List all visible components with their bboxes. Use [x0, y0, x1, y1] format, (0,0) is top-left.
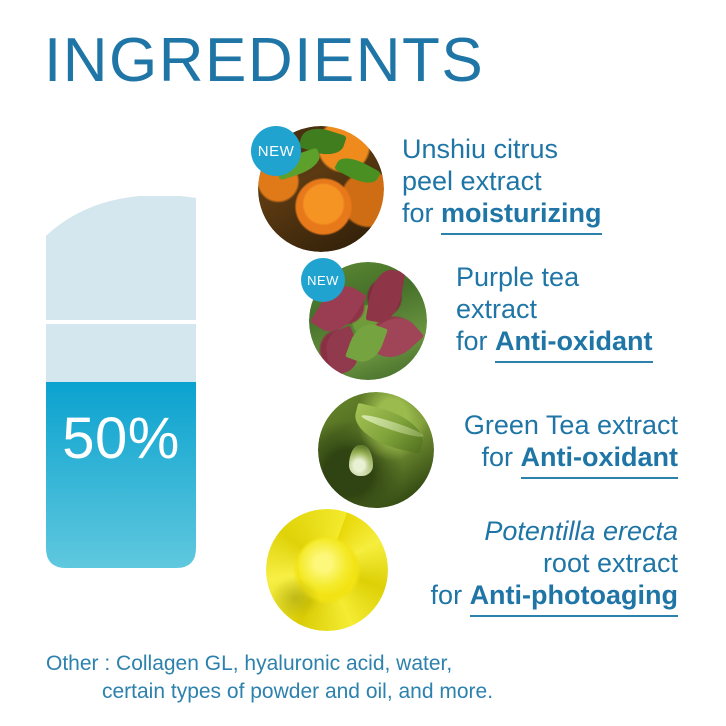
footer-note: Other : Collagen GL, hyaluronic acid, wa…	[46, 650, 493, 707]
benefit-value: moisturizing	[441, 198, 602, 235]
ingredient-text: Green Tea extract for Anti-oxidant	[378, 410, 678, 474]
ingredient-text: Potentilla erecta root extract for Anti-…	[378, 516, 678, 612]
ingredients-infographic: INGREDIENTS 50%	[0, 0, 726, 726]
gauge-value-label: 50%	[46, 410, 196, 468]
benefit-prefix: for	[482, 442, 521, 472]
ingredient-text: Unshiu citrus peel extract for moisturiz…	[402, 134, 602, 230]
benefit-prefix: for	[431, 580, 470, 610]
bottle-shape	[46, 196, 232, 568]
ingredient-line-2: extract	[456, 294, 653, 326]
new-badge: NEW	[301, 258, 345, 302]
new-badge: NEW	[251, 126, 301, 176]
benefit-value: Anti-oxidant	[495, 326, 652, 363]
ingredient-benefit: for moisturizing	[402, 198, 602, 230]
ingredient-benefit: for Anti-photoaging	[378, 580, 678, 612]
bottle-fill-gauge: 50%	[46, 196, 232, 568]
benefit-value: Anti-oxidant	[521, 442, 678, 479]
ingredient-line-1: Potentilla erecta	[378, 516, 678, 548]
benefit-prefix: for	[402, 198, 441, 228]
ingredient-line-1: Purple tea	[456, 262, 653, 294]
yellow-flower-photo	[266, 509, 388, 631]
footer-line-2: certain types of powder and oil, and mor…	[46, 678, 493, 706]
ingredient-text: Purple tea extract for Anti-oxidant	[456, 262, 653, 358]
ingredient-benefit: for Anti-oxidant	[378, 442, 678, 474]
ingredient-line-2: peel extract	[402, 166, 602, 198]
benefit-prefix: for	[456, 326, 495, 356]
page-title: INGREDIENTS	[44, 30, 484, 92]
benefit-value: Anti-photoaging	[470, 580, 678, 617]
gauge-seam-line	[46, 320, 198, 324]
gauge-cap-segment	[46, 196, 198, 322]
footer-line-1: Other : Collagen GL, hyaluronic acid, wa…	[46, 652, 452, 675]
ingredient-line-2: root extract	[378, 548, 678, 580]
ingredient-line-1: Unshiu citrus	[402, 134, 602, 166]
ingredient-line-1: Green Tea extract	[378, 410, 678, 442]
ingredient-benefit: for Anti-oxidant	[456, 326, 653, 358]
